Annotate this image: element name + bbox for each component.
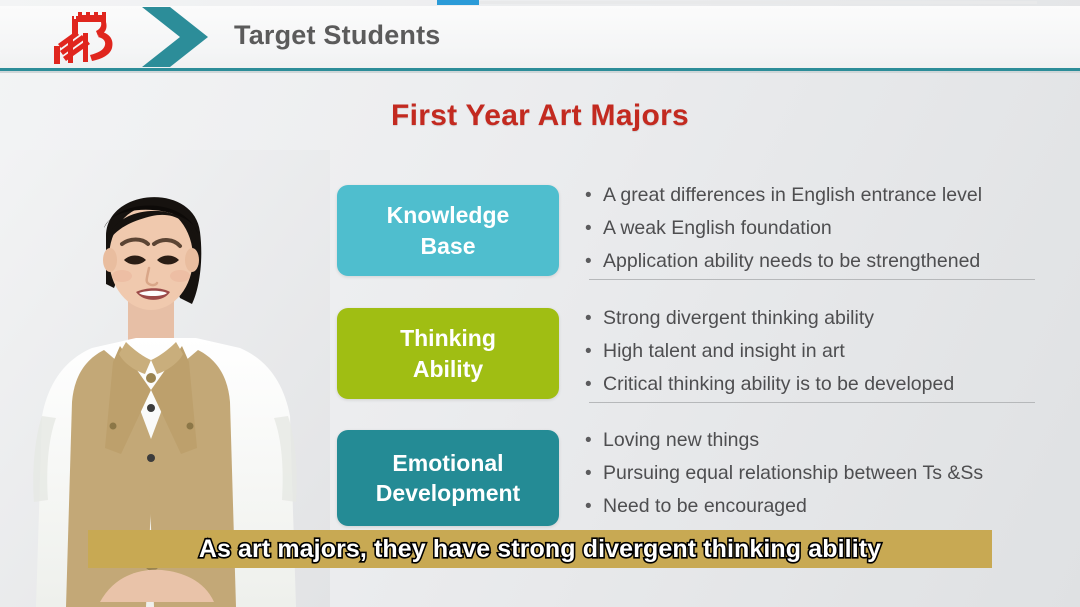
list-item-text: Need to be encouraged <box>603 490 807 523</box>
bullet-dot-icon: • <box>585 245 603 278</box>
list-item-text: High talent and insight in art <box>603 335 845 368</box>
bullet-list-thinking-ability: • Strong divergent thinking ability • Hi… <box>585 302 1045 401</box>
slide-title: First Year Art Majors <box>0 99 1080 133</box>
category-box-knowledge-base: Knowledge Base <box>337 185 559 276</box>
list-item-text: A weak English foundation <box>603 212 832 245</box>
list-item-text: Pursuing equal relationship between Ts &… <box>603 457 983 490</box>
chevron-right-icon <box>140 5 212 69</box>
list-item: • Strong divergent thinking ability <box>585 302 1045 335</box>
category-label-line1: Thinking <box>400 323 496 353</box>
bullet-dot-icon: • <box>585 302 603 335</box>
subtitle-bar: As art majors, they have strong divergen… <box>88 530 992 568</box>
bullet-dot-icon: • <box>585 368 603 401</box>
list-item: • A great differences in English entranc… <box>585 179 1045 212</box>
category-label-line2: Ability <box>413 354 483 384</box>
slide-canvas: Target Students First Year Art Majors <box>0 0 1080 607</box>
page-title: Target Students <box>234 20 441 51</box>
bullet-dot-icon: • <box>585 212 603 245</box>
list-item: • Application ability needs to be streng… <box>585 245 1045 278</box>
list-item: • Loving new things <box>585 424 1045 457</box>
bullet-dot-icon: • <box>585 335 603 368</box>
list-item-text: Critical thinking ability is to be devel… <box>603 368 954 401</box>
header-divider-secondary <box>0 71 1080 73</box>
category-label-line1: Knowledge <box>387 200 510 230</box>
category-label-line2: Base <box>421 231 476 261</box>
list-item-text: Application ability needs to be strength… <box>603 245 980 278</box>
list-item-text: Loving new things <box>603 424 759 457</box>
bullet-dot-icon: • <box>585 490 603 523</box>
list-item: • Pursuing equal relationship between Ts… <box>585 457 1045 490</box>
bullet-list-knowledge-base: • A great differences in English entranc… <box>585 179 1045 278</box>
bullet-dot-icon: • <box>585 424 603 457</box>
bullet-dot-icon: • <box>585 179 603 212</box>
list-item-text: A great differences in English entrance … <box>603 179 982 212</box>
progress-track[interactable] <box>437 1 1037 4</box>
category-label-line1: Emotional <box>392 448 503 478</box>
category-box-thinking-ability: Thinking Ability <box>337 308 559 399</box>
subtitle-text: As art majors, they have strong divergen… <box>199 535 881 564</box>
section-divider <box>589 279 1035 280</box>
category-label-line2: Development <box>376 478 520 508</box>
list-item: • Critical thinking ability is to be dev… <box>585 368 1045 401</box>
section-divider <box>589 402 1035 403</box>
list-item-text: Strong divergent thinking ability <box>603 302 874 335</box>
category-box-emotional-development: Emotional Development <box>337 430 559 526</box>
great-wall-logo-icon <box>48 6 144 66</box>
bullet-dot-icon: • <box>585 457 603 490</box>
list-item: • High talent and insight in art <box>585 335 1045 368</box>
list-item: • A weak English foundation <box>585 212 1045 245</box>
progress-fill <box>437 0 479 5</box>
list-item: • Need to be encouraged <box>585 490 1045 523</box>
